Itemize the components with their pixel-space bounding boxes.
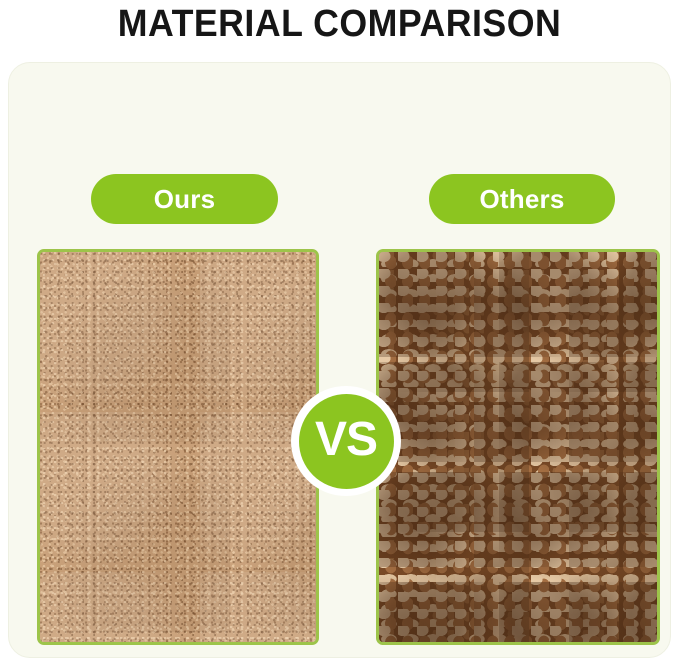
vs-circle: VS	[299, 394, 394, 489]
page-title: MATERIAL COMPARISON	[20, 2, 658, 46]
badge-others[interactable]: Others	[429, 174, 615, 224]
panel-ours	[37, 249, 319, 645]
comparison-infographic: MATERIAL COMPARISON Ours Others VS HIGH …	[0, 0, 679, 665]
comparison-card: Ours Others VS HIGH DENSITY SPARSE CORK	[8, 62, 671, 658]
vs-label: VS	[315, 416, 377, 464]
vs-badge: VS	[291, 386, 401, 496]
panel-others	[376, 249, 660, 645]
texture-sparse-cork	[379, 252, 657, 642]
texture-high-density	[40, 252, 316, 642]
badge-ours[interactable]: Ours	[91, 174, 278, 224]
